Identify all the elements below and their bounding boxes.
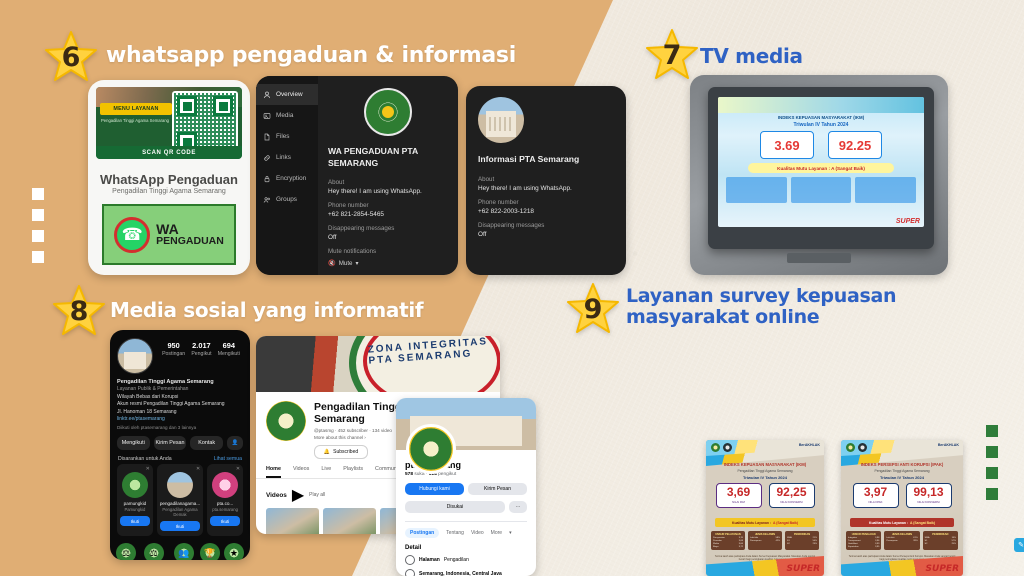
star-number-9: 9 bbox=[584, 296, 603, 323]
poster-logos bbox=[711, 443, 732, 452]
scan-qr-label: SCAN QR CODE bbox=[96, 146, 242, 159]
highlight-icon: ★ bbox=[224, 543, 244, 560]
table-row: Transparansi3,96 bbox=[848, 540, 879, 542]
facebook-page-mockup: ptasemarang 578 suka · 614 pengikut Hubu… bbox=[396, 398, 536, 576]
facebook-primary-buttons: Hubungi kami Kirim Pesan bbox=[405, 483, 527, 495]
poster-table-3: PENDIDIKAN SMA18% S157% S225% bbox=[923, 531, 958, 550]
contact-name-2: Informasi PTA Semarang bbox=[478, 154, 614, 166]
tab-home[interactable]: Home bbox=[266, 466, 281, 478]
file-icon bbox=[263, 133, 271, 141]
qr-eye-top-right bbox=[213, 96, 233, 116]
star-number-8: 8 bbox=[70, 298, 89, 325]
table-row: S157% bbox=[925, 540, 956, 542]
ikm-result-poster: BerAKHLAK INDEKS KEPUASAN MASYARAKAT (IK… bbox=[706, 440, 824, 576]
message-button[interactable]: Kirim Pesan bbox=[154, 436, 187, 450]
about-label-2: About bbox=[478, 176, 614, 183]
poster-quality-value: A (Sangat Baik) bbox=[773, 521, 798, 525]
instagram-profile-mockup: 950 Postingan 2.017 Pengikut 694 Mengiku… bbox=[110, 330, 250, 560]
tv-screen: INDEKS KEPUASAN MASYARAKAT (IKM) Triwula… bbox=[718, 97, 924, 227]
video-thumbnail[interactable] bbox=[266, 508, 319, 534]
whatsapp-info-panel: Informasi PTA Semarang About Hey there! … bbox=[466, 86, 626, 275]
highlight-icon: ⚖ bbox=[116, 543, 136, 560]
liked-button[interactable]: Disukai bbox=[405, 501, 505, 513]
more-options-icon[interactable]: ⋯ bbox=[509, 501, 527, 513]
poster-value-2-number: 92,25 bbox=[770, 486, 814, 498]
following-button[interactable]: Mengikuti bbox=[117, 436, 150, 450]
poster-brand-badge: BerAKHLAK bbox=[938, 443, 959, 447]
sidebar-label-encryption: Encryption bbox=[276, 175, 306, 182]
poster-super-badge: SUPER bbox=[787, 564, 820, 574]
poster-value-1-number: 3,69 bbox=[717, 486, 761, 498]
poster-value-2-number: 99,13 bbox=[907, 486, 951, 498]
bell-icon: 🔔 bbox=[324, 449, 330, 455]
sidebar-label-files: Files bbox=[276, 133, 290, 140]
sidebar-item-files[interactable]: Files bbox=[256, 126, 318, 147]
poster-value-1-label: NILAI IKM bbox=[717, 500, 761, 504]
poster-period: Triwulan IV Tahun 2024 bbox=[845, 475, 959, 480]
about-value: Hey there! I am using WhatsApp. bbox=[328, 188, 448, 195]
poster-table-1: UNSUR PELAYANAN Persyaratan3,70 Prosedur… bbox=[711, 531, 745, 550]
poster-org: Pengadilan Tinggi Agama Semarang bbox=[845, 469, 959, 473]
poster-quality-bar: Kualitas Mutu Layanan : A (Sangat Baik) bbox=[715, 518, 815, 527]
qr-eye-top-left bbox=[177, 96, 197, 116]
sidebar-label-overview: Overview bbox=[276, 91, 303, 98]
table-row: S225% bbox=[787, 543, 817, 545]
table-row: Kepatuhan3,95 bbox=[848, 546, 879, 548]
table-row: Perempuan39% bbox=[886, 540, 917, 542]
disappearing-label-2: Disappearing messages bbox=[478, 222, 614, 229]
suggestions-title: Disarankan untuk Anda bbox=[118, 456, 172, 462]
tab-postingan[interactable]: Postingan bbox=[405, 528, 439, 538]
poster-logos bbox=[846, 443, 867, 452]
table-row: Biaya3,72 bbox=[713, 546, 743, 548]
stat-posts-value: 950 bbox=[162, 341, 185, 350]
link-icon bbox=[263, 154, 271, 162]
wa-button-line2: PENGADUAN bbox=[156, 236, 224, 247]
video-thumbnail[interactable] bbox=[323, 508, 376, 534]
sidebar-item-overview[interactable]: Overview bbox=[256, 84, 318, 105]
poster-table-2: JENIS KELAMIN Laki-laki58% Perempuan42% bbox=[748, 531, 782, 550]
about-value-2: Hey there! I am using WhatsApp. bbox=[478, 185, 614, 192]
sidebar-item-groups[interactable]: Groups bbox=[256, 189, 318, 210]
highlight-icon: 🏆 bbox=[200, 543, 220, 560]
poster-title: INDEKS PERSEPSI ANTI KORUPSI (IPAK) bbox=[845, 462, 959, 467]
section-title-8: Media sosial yang informatif bbox=[110, 299, 423, 321]
table-row: SMA21% bbox=[787, 537, 817, 539]
close-icon[interactable]: ✕ bbox=[236, 466, 240, 472]
table-head: PENDIDIKAN bbox=[787, 533, 817, 536]
highlight-icon: 👥 bbox=[174, 543, 194, 560]
section-title-9: Layanan survey kepuasan masyarakat onlin… bbox=[626, 286, 956, 329]
poster-quality-bar: Kualitas Mutu Layanan : A (Sangat Baik) bbox=[850, 518, 954, 527]
disappearing-value: Off bbox=[328, 234, 448, 241]
poster-super-badge: SUPER bbox=[926, 564, 959, 574]
flyer-title: WhatsApp Pengaduan bbox=[88, 172, 250, 187]
menu-layanan-badge: MENU LAYANAN bbox=[100, 103, 172, 115]
tab-tentang[interactable]: Tentang bbox=[446, 530, 464, 536]
ipak-result-poster: BerAKHLAK INDEKS PERSEPSI ANTI KORUPSI (… bbox=[841, 440, 963, 576]
qr-flyer-card: MENU LAYANAN Pengadilan Tinggi Agama Sem… bbox=[88, 80, 250, 275]
chevron-down-icon: ▾ bbox=[355, 260, 358, 267]
detail-value-address: Semarang, Indonesia, Central Java bbox=[419, 571, 502, 576]
stat-following[interactable]: 694 Mengikuti bbox=[218, 341, 240, 357]
tv-super-badge: SUPER bbox=[896, 218, 920, 225]
suggestion-sub: Pengadilan Agama Demak bbox=[160, 507, 200, 517]
instagram-name: Pengadilan Tinggi Agama Semarang bbox=[117, 379, 243, 385]
chevron-down-icon[interactable]: ▾ bbox=[509, 530, 512, 536]
suggestion-avatar bbox=[212, 472, 238, 498]
tv-score-row: 3.69 92.25 bbox=[718, 131, 924, 159]
detail-label-page: Halaman bbox=[419, 557, 440, 563]
table-row: S154% bbox=[787, 540, 817, 542]
stat-following-label: Mengikuti bbox=[218, 351, 240, 357]
poster-quality-label: Kualitas Mutu Layanan : bbox=[732, 521, 771, 525]
tab-live[interactable]: Live bbox=[321, 466, 331, 478]
poster-quality-label: Kualitas Mutu Layanan : bbox=[869, 521, 908, 525]
wa-pengaduan-button[interactable]: ☎ WA PENGADUAN bbox=[102, 204, 236, 265]
videos-label: Videos bbox=[266, 492, 287, 499]
suggestion-card[interactable]: ✕ pengadilanagama... Pengadilan Agama De… bbox=[157, 464, 203, 536]
contact-avatar-2 bbox=[478, 97, 524, 143]
table-row: Laki-laki58% bbox=[750, 537, 780, 539]
followers-label: pengikut bbox=[438, 472, 456, 477]
sidebar-item-media[interactable]: Media bbox=[256, 105, 318, 126]
sidebar-item-encryption[interactable]: Encryption bbox=[256, 168, 318, 189]
table-head: UNSUR PELAYANAN bbox=[713, 533, 743, 536]
qr-green-block: MENU LAYANAN Pengadilan Tinggi Agama Sem… bbox=[96, 87, 242, 159]
tv-screen-period: Triwulan IV Tahun 2024 bbox=[718, 122, 924, 128]
contact-name: WA PENGADUAN PTA SEMARANG bbox=[328, 146, 448, 169]
send-message-button[interactable]: Kirim Pesan bbox=[468, 483, 527, 495]
poster-values: 3,69 NILAI IKM 92,25 NILAI KONVERSI bbox=[706, 483, 824, 508]
table-head: UNSUR PENILAIAN bbox=[848, 533, 879, 536]
phone-value: +62 821-2854-5465 bbox=[328, 211, 448, 218]
tv-score-1: 3.69 bbox=[760, 131, 814, 159]
whatsapp-info-main: Informasi PTA Semarang About Hey there! … bbox=[466, 86, 626, 238]
section-title-9-line1: Layanan survey kepuasan bbox=[626, 286, 956, 307]
detail-row-page: Halaman Pengadilan bbox=[405, 555, 527, 565]
tab-videos[interactable]: Videos bbox=[293, 466, 309, 478]
instagram-bio: Pengadilan Tinggi Agama Semarang Layanan… bbox=[110, 374, 250, 430]
instagram-suggestion-cards: ✕ pamungkid Pamungkid Ikuti ✕ pengadilan… bbox=[110, 464, 250, 536]
sidebar-item-links[interactable]: Links bbox=[256, 147, 318, 168]
youtube-subscribe-label: Subscribed bbox=[333, 449, 358, 455]
instagram-suggestions-header: Disarankan untuk Anda Lihat semua bbox=[110, 450, 250, 464]
tab-video[interactable]: Video bbox=[471, 530, 484, 536]
instagram-category: Layanan Publik & Pemerintahan bbox=[117, 386, 243, 392]
instagram-avatar bbox=[117, 338, 153, 374]
poster-table-1: UNSUR PENILAIAN Integritas3,98 Transpara… bbox=[846, 531, 881, 550]
detail-row-address: Semarang, Indonesia, Central Java bbox=[405, 569, 527, 576]
disappearing-value-2: Off bbox=[478, 231, 614, 238]
poster-value-1: 3,97 NILAI IPAK bbox=[853, 483, 899, 508]
whatsapp-contact-main: WA PENGADUAN PTA SEMARANG About Hey ther… bbox=[318, 76, 458, 275]
star-number-6: 6 bbox=[62, 44, 81, 71]
table-row: Laki-laki61% bbox=[886, 537, 917, 539]
instagram-stats: 950 Postingan 2.017 Pengikut 694 Mengiku… bbox=[159, 338, 243, 357]
image-icon bbox=[263, 112, 271, 120]
highlight-item[interactable]: ★ Inovasi bbox=[224, 543, 244, 560]
sidebar-label-links: Links bbox=[276, 154, 291, 161]
suggestion-card[interactable]: ✕ pamungkid Pamungkid Ikuti bbox=[117, 464, 153, 536]
poster-brand-badge: BerAKHLAK bbox=[799, 443, 820, 447]
poster-value-2-label: NILAI KONVERSI bbox=[907, 500, 951, 504]
tv-stand bbox=[787, 253, 851, 263]
follow-button[interactable]: Ikuti bbox=[120, 516, 150, 526]
qr-flyer-top: MENU LAYANAN Pengadilan Tinggi Agama Sem… bbox=[96, 87, 242, 159]
decorative-squares-right bbox=[986, 425, 998, 500]
disappearing-label: Disappearing messages bbox=[328, 225, 448, 232]
suggestion-card[interactable]: ✕ pta.co... pta.semarang Ikuti bbox=[207, 464, 243, 536]
facebook-avatar bbox=[406, 424, 456, 474]
stat-followers[interactable]: 2.017 Pengikut bbox=[191, 341, 211, 357]
poster-quality-value: A (Sangat Baik) bbox=[910, 521, 935, 525]
tv-screen-header bbox=[718, 97, 924, 113]
stat-followers-label: Pengikut bbox=[191, 351, 211, 357]
phone-value-2: +62 822-2003-1218 bbox=[478, 208, 614, 215]
flyer-org-name: Pengadilan Tinggi Agama Semarang bbox=[101, 118, 173, 123]
poster-tables: UNSUR PENILAIAN Integritas3,98 Transpara… bbox=[846, 531, 958, 550]
youtube-subscribe-button[interactable]: 🔔 Subscribed bbox=[314, 445, 368, 459]
suggestion-sub: pta.semarang bbox=[210, 507, 240, 512]
tv-table-strip bbox=[726, 177, 916, 203]
close-icon[interactable]: ✕ bbox=[146, 466, 150, 472]
instagram-bio-line2: Akun resmi Pengadilan Tinggi Agama Semar… bbox=[117, 401, 243, 407]
tv-screen-title: INDEKS KEPUASAN MASYARAKAT (IKM) bbox=[718, 115, 924, 120]
instagram-bio-line3: Jl. Hanoman 18 Semarang bbox=[117, 409, 243, 415]
contact-button[interactable]: Kontak bbox=[190, 436, 223, 450]
poster-table-3: PENDIDIKAN SMA21% S154% S225% bbox=[785, 531, 819, 550]
highlight-item[interactable]: ⚖ Pengaduan bbox=[116, 543, 136, 560]
play-icon[interactable]: ▶ bbox=[292, 485, 304, 505]
poster-tables: UNSUR PELAYANAN Persyaratan3,70 Prosedur… bbox=[711, 531, 819, 550]
facebook-detail-title: Detail bbox=[405, 545, 527, 551]
suggestions-see-all[interactable]: Lihat semua bbox=[214, 456, 242, 462]
close-icon[interactable]: ✕ bbox=[196, 466, 200, 472]
sidebar-label-groups: Groups bbox=[276, 196, 297, 203]
table-row: Persyaratan3,70 bbox=[713, 537, 743, 539]
suggestion-avatar bbox=[122, 472, 148, 498]
tab-more[interactable]: More bbox=[491, 530, 502, 536]
slide-canvas: 6 whatsapp pengaduan & informasi MENU LA… bbox=[0, 0, 1024, 576]
whatsapp-sidebar: Overview Media Files Links Encryption Gr… bbox=[256, 76, 318, 275]
play-all-label[interactable]: Play all bbox=[309, 492, 325, 498]
stat-posts: 950 Postingan bbox=[162, 341, 185, 357]
highlight-item[interactable]: ⚖ Layanan Perkara bbox=[140, 543, 167, 560]
poster-table-2: JENIS KELAMIN Laki-laki61% Perempuan39% bbox=[884, 531, 919, 550]
star-badge-8: 8 bbox=[52, 284, 106, 338]
whatsapp-contact-panel: Overview Media Files Links Encryption Gr… bbox=[256, 76, 458, 275]
instagram-bio-link[interactable]: linktr.ee/ptasemarang bbox=[117, 416, 243, 422]
facebook-secondary-buttons: Disukai ⋯ bbox=[405, 501, 527, 513]
pin-icon bbox=[405, 569, 415, 576]
table-row: SMA18% bbox=[925, 537, 956, 539]
phone-label: Phone number bbox=[328, 202, 448, 209]
suggestion-sub: Pamungkid bbox=[120, 507, 150, 512]
star-number-7: 7 bbox=[663, 42, 682, 69]
stat-following-value: 694 bbox=[218, 341, 240, 350]
flyer-subtitle: Pengadilan Tinggi Agama Semarang bbox=[88, 188, 250, 195]
whatsapp-icon: ☎ bbox=[114, 217, 150, 253]
about-label: About bbox=[328, 179, 448, 186]
mute-value: Mute bbox=[339, 260, 353, 267]
poster-title: INDEKS KEPUASAN MASYARAKAT (IKM) bbox=[710, 462, 820, 467]
stat-followers-value: 2.017 bbox=[191, 341, 211, 350]
section-title-6: whatsapp pengaduan & informasi bbox=[106, 44, 516, 69]
youtube-banner: ZONA INTEGRITAS PTA SEMARANG bbox=[256, 336, 500, 392]
table-row: Perempuan42% bbox=[750, 540, 780, 542]
likes-count: 578 bbox=[405, 472, 413, 477]
highlight-item[interactable]: 👥 Layanan Publik bbox=[171, 543, 196, 560]
section-title-9-line2: masyarakat online bbox=[626, 307, 956, 328]
decorative-squares-left bbox=[32, 188, 44, 263]
table-head: JENIS KELAMIN bbox=[886, 533, 917, 536]
stat-posts-label: Postingan bbox=[162, 351, 185, 357]
info-icon bbox=[405, 555, 415, 565]
facebook-tabs: Postingan Tentang Video More ▾ bbox=[405, 521, 527, 538]
poster-period: Triwulan IV Tahun 2024 bbox=[710, 475, 820, 480]
detail-value-page: Pengadilan bbox=[444, 557, 469, 563]
highlight-icon: ⚖ bbox=[144, 543, 164, 560]
youtube-avatar bbox=[266, 401, 306, 441]
poster-value-1: 3,69 NILAI IKM bbox=[716, 483, 762, 508]
table-row: Integritas3,98 bbox=[848, 537, 879, 539]
user-icon bbox=[263, 91, 271, 99]
wa-button-text: WA PENGADUAN bbox=[156, 222, 224, 248]
tv-frame: INDEKS KEPUASAN MASYARAKAT (IKM) Triwula… bbox=[708, 87, 934, 249]
instagram-highlights: ⚖ Pengaduan ⚖ Layanan Perkara 👥 Layanan … bbox=[110, 536, 250, 560]
suggestion-name: pengadilanagama... bbox=[160, 501, 200, 506]
table-row: S225% bbox=[925, 543, 956, 545]
poster-value-2: 92,25 NILAI KONVERSI bbox=[769, 483, 815, 508]
mute-icon: 🔇 bbox=[328, 259, 336, 267]
poster-value-1-number: 3,97 bbox=[854, 486, 898, 498]
tv-score-2: 92.25 bbox=[828, 131, 882, 159]
wa-button-line1: WA bbox=[156, 221, 179, 237]
poster-value-1-label: NILAI IPAK bbox=[854, 500, 898, 504]
people-icon bbox=[263, 196, 271, 204]
table-head: JENIS KELAMIN bbox=[750, 533, 780, 536]
sidebar-label-media: Media bbox=[276, 112, 293, 119]
instagram-bio-line1: Wilayah Bebas dari Korupsi bbox=[117, 394, 243, 400]
suggestion-avatar bbox=[167, 472, 193, 498]
follow-button[interactable]: Ikuti bbox=[210, 516, 240, 526]
contact-us-button[interactable]: Hubungi kami bbox=[405, 483, 464, 495]
tv-media-photo: INDEKS KEPUASAN MASYARAKAT (IKM) Triwula… bbox=[690, 75, 948, 275]
lock-icon bbox=[263, 175, 271, 183]
follow-button[interactable]: Ikuti bbox=[160, 521, 200, 531]
instagram-action-buttons: Mengikuti Kirim Pesan Kontak 👤 bbox=[110, 430, 250, 450]
table-head: PENDIDIKAN bbox=[925, 533, 956, 536]
add-person-icon[interactable]: 👤 bbox=[227, 436, 243, 450]
tv-quality-bar: Kualitas Mutu Layanan : A (Sangat Baik) bbox=[748, 163, 894, 173]
poster-value-2-label: NILAI KONVERSI bbox=[770, 500, 814, 504]
star-badge-9: 9 bbox=[566, 282, 620, 336]
star-badge-7: 7 bbox=[645, 28, 699, 82]
tab-playlists[interactable]: Playlists bbox=[343, 466, 363, 478]
poster-org: Pengadilan Tinggi Agama Semarang bbox=[710, 469, 820, 473]
suggestion-name: pamungkid bbox=[120, 501, 150, 506]
mute-label: Mute notifications bbox=[328, 248, 448, 255]
contact-avatar bbox=[364, 88, 412, 136]
table-row: Prosedur3,68 bbox=[713, 540, 743, 542]
mute-dropdown[interactable]: 🔇 Mute ▾ bbox=[328, 259, 448, 267]
poster-values: 3,97 NILAI IPAK 99,13 NILAI KONVERSI bbox=[841, 483, 963, 508]
table-row: Waktu3,66 bbox=[713, 543, 743, 545]
poster-value-2: 99,13 NILAI KONVERSI bbox=[906, 483, 952, 508]
highlight-item[interactable]: 🏆 Prestasi bbox=[200, 543, 220, 560]
suggestion-name: pta.co... bbox=[210, 501, 240, 506]
phone-label-2: Phone number bbox=[478, 199, 614, 206]
star-badge-6: 6 bbox=[44, 30, 98, 84]
instagram-header: 950 Postingan 2.017 Pengikut 694 Mengiku… bbox=[110, 330, 250, 374]
table-row: Gratifikasi3,99 bbox=[848, 543, 879, 545]
section-title-7: TV media bbox=[700, 45, 803, 67]
